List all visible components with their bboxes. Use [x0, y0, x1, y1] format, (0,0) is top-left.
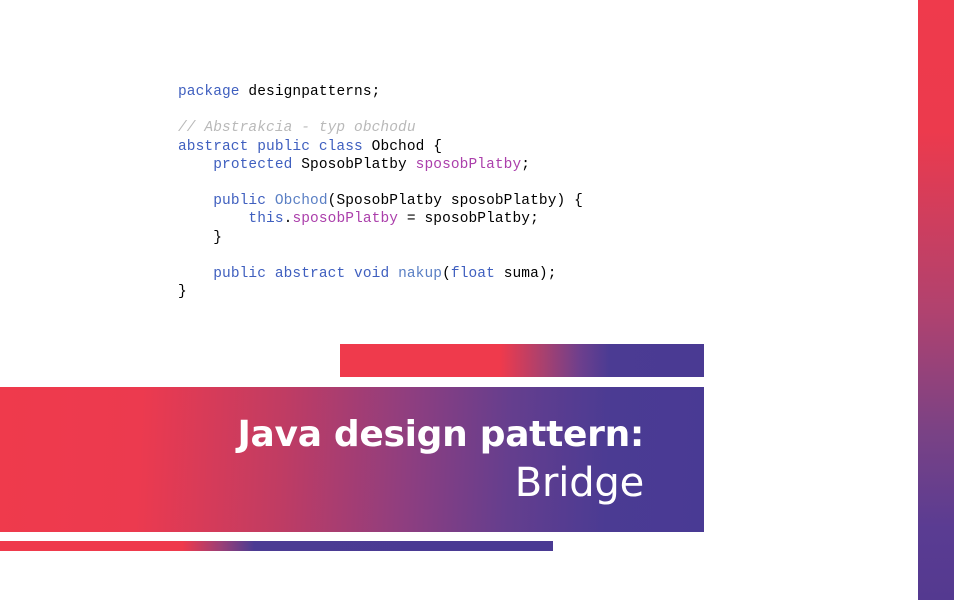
code-token: = sposobPlatby; [398, 211, 539, 227]
code-line: public abstract void nakup(float suma); [178, 265, 878, 283]
code-token: suma); [495, 266, 557, 282]
code-line: // Abstrakcia - typ obchodu [178, 119, 878, 137]
code-token: public [213, 193, 266, 209]
code-line [178, 101, 878, 119]
code-snippet: package designpatterns; // Abstrakcia - … [178, 83, 878, 301]
code-token: package [178, 84, 240, 100]
title-banner: Java design pattern: Bridge [0, 387, 704, 532]
code-token: (SposobPlatby sposobPlatby) { [328, 193, 583, 209]
code-token: // Abstrakcia - typ obchodu [178, 120, 416, 136]
code-token: } [178, 284, 187, 300]
code-line: this.sposobPlatby = sposobPlatby; [178, 210, 878, 228]
code-token: ( [442, 266, 451, 282]
code-token [266, 193, 275, 209]
code-token [178, 266, 213, 282]
code-line: abstract public class Obchod { [178, 138, 878, 156]
code-token: } [178, 230, 222, 246]
code-token: sposobPlatby [292, 211, 398, 227]
code-line: } [178, 283, 878, 301]
title-text-group: Java design pattern: Bridge [0, 387, 644, 532]
code-token: public abstract void [213, 266, 389, 282]
decorative-accent-bar-bottom [0, 541, 553, 551]
code-token: Obchod { [363, 139, 442, 155]
page-title-primary: Java design pattern: [237, 412, 644, 458]
code-token [389, 266, 398, 282]
code-token: abstract public class [178, 139, 363, 155]
code-token: Obchod [275, 193, 328, 209]
decorative-side-strip [918, 0, 954, 600]
code-token: this [248, 211, 283, 227]
slide-canvas: package designpatterns; // Abstrakcia - … [0, 0, 954, 600]
code-line [178, 174, 878, 192]
code-token [178, 157, 213, 173]
code-token: nakup [398, 266, 442, 282]
code-line: package designpatterns; [178, 83, 878, 101]
code-token: ; [521, 157, 530, 173]
page-title-secondary: Bridge [515, 458, 644, 508]
code-line: protected SposobPlatby sposobPlatby; [178, 156, 878, 174]
code-token: designpatterns; [240, 84, 381, 100]
code-token: float [451, 266, 495, 282]
code-token [178, 193, 213, 209]
code-token: protected [213, 157, 292, 173]
code-token [178, 211, 248, 227]
code-line: } [178, 229, 878, 247]
code-line: public Obchod(SposobPlatby sposobPlatby)… [178, 192, 878, 210]
code-token: SposobPlatby [292, 157, 415, 173]
code-line [178, 247, 878, 265]
decorative-accent-bar-top [340, 344, 704, 377]
code-token: sposobPlatby [416, 157, 522, 173]
